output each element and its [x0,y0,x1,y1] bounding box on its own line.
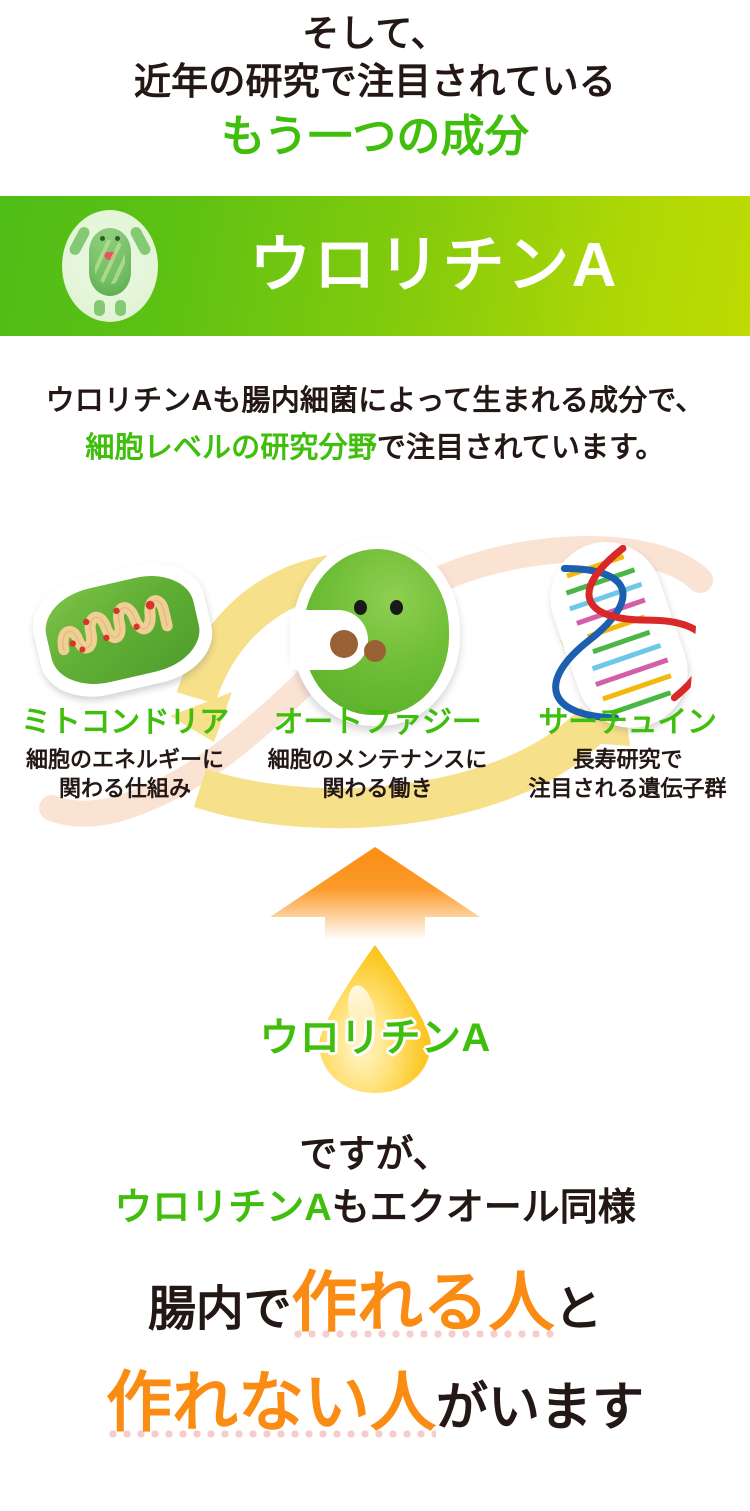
closing-line-1: ですが、 [0,1130,750,1180]
urolithin-mascot-icon [62,210,158,322]
banner-title: ウロリチンA [158,235,710,297]
closing-line-3-orange: 作れる人 [291,1265,554,1341]
mascot-leg-left [94,300,105,316]
label-desc: 細胞のエネルギーに 関わる仕組み [0,745,250,804]
intro-line-3-highlight: もう一つの成分 [0,108,750,165]
closing-line-4: 作れない人がいます [0,1352,750,1452]
diagram-label-autophagy: オートファジー 細胞のメンテナンスに 関わる働き [250,706,505,804]
mascot-leg-right [115,300,126,316]
mascot-stripe [95,240,125,284]
label-desc: 細胞のメンテナンスに 関わる働き [250,745,505,804]
diagram-label-sirtuin: サーチュイン 長寿研究で 注目される遺伝子群 [505,706,750,804]
label-desc-line-2: 関わる働き [250,774,505,804]
promo-page: そして、 近年の研究で注目されている もう一つの成分 ウロリチンA ウロリチンA… [0,0,750,1511]
closing-line-4-orange: 作れない人 [106,1365,436,1441]
intro-heading: そして、 近年の研究で注目されている もう一つの成分 [0,10,750,165]
up-arrow-icon [0,845,750,940]
label-desc-line-1: 細胞のメンテナンスに [250,745,505,775]
label-desc: 長寿研究で 注目される遺伝子群 [505,745,750,804]
urolithin-banner: ウロリチンA [0,196,750,336]
closing-line-3: 腸内で作れる人と [0,1252,750,1352]
label-title: サーチュイン [505,706,750,741]
label-title: オートファジー [250,706,505,741]
label-title: ミトコンドリア [0,706,250,741]
closing-line-2-green: ウロリチンA [114,1187,331,1229]
closing-line-4-post: がいます [436,1379,644,1437]
lead-highlight: 細胞レベルの研究分野 [85,432,376,464]
intro-line-2: 近年の研究で注目されている [0,58,750,106]
autophagy-eye-left [354,600,367,615]
lead-line-2: 細胞レベルの研究分野で注目されています。 [0,425,750,472]
intro-line-1: そして、 [0,10,750,58]
lead-paragraph: ウロリチンAも腸内細菌によって生まれる成分で、 細胞レベルの研究分野で注目されて… [0,378,750,472]
autophagy-icon [292,538,460,726]
diagram-label-mitochondria: ミトコンドリア 細胞のエネルギーに 関わる仕組み [0,706,250,804]
closing-line-3-pre: 腸内で [148,1283,291,1336]
lead-line-1: ウロリチンAも腸内細菌によって生まれる成分で、 [0,378,750,425]
closing-line-2: ウロリチンAもエクオール同様 [0,1182,750,1236]
label-desc-line-2: 注目される遺伝子群 [505,774,750,804]
closing-line-3-post: と [554,1283,602,1336]
droplet-label: ウロリチンA [0,1005,750,1063]
label-desc-line-1: 細胞のエネルギーに [0,745,250,775]
label-desc-line-2: 関わる仕組み [0,774,250,804]
autophagy-cheek-right [364,640,386,662]
autophagy-cheek-left [330,630,358,658]
lead-line-2-rest: で注目されています。 [377,432,665,464]
autophagy-eye-right [390,600,403,615]
closing-copy: ですが、 ウロリチンAもエクオール同様 腸内で作れる人と 作れない人がいます [0,1130,750,1453]
label-desc-line-1: 長寿研究で [505,745,750,775]
urolithin-droplet-group: ウロリチンA [0,945,750,1105]
closing-line-2-black: もエクオール同様 [332,1187,636,1229]
